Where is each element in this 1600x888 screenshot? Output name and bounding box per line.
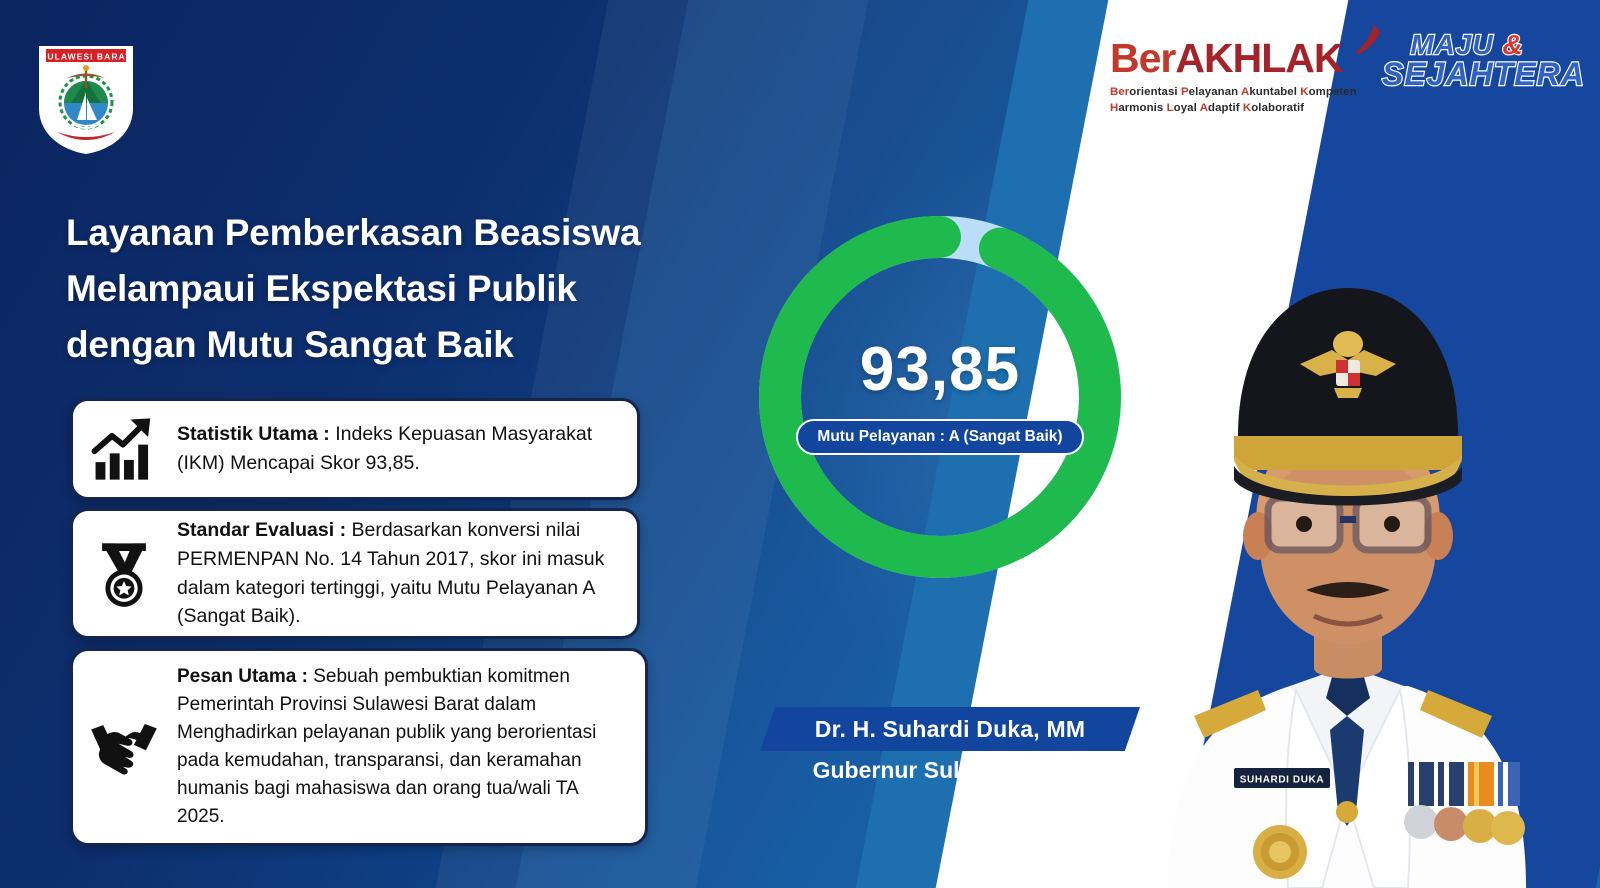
- maju-line-2: SEJAHTERA: [1382, 59, 1552, 90]
- info-card-pesan-utama: Pesan Utama : Sebuah pembuktian komitmen…: [70, 648, 648, 846]
- official-name-plate: Dr. H. Suhardi Duka, MM: [760, 707, 1140, 751]
- maju-sejahtera-logo: MAJU & SEJAHTERA: [1382, 32, 1552, 90]
- info-card-body: Sebuah pembuktian komitmen Pemerintah Pr…: [177, 666, 596, 828]
- ikm-donut-gauge: 93,85 Mutu Pelayanan : A (Sangat Baik): [748, 205, 1132, 589]
- info-card-text: Pesan Utama : Sebuah pembuktian komitmen…: [177, 663, 629, 832]
- info-card-label: Statistik Utama :: [177, 423, 330, 445]
- info-card-standar-evaluasi: Standar Evaluasi : Berdasarkan konversi …: [70, 508, 640, 639]
- gauge-center-content: 93,85 Mutu Pelayanan : A (Sangat Baik): [748, 205, 1132, 589]
- info-card-label: Pesan Utama :: [177, 666, 308, 687]
- tagline-rest-1: orientasi: [1129, 86, 1181, 98]
- info-card-label: Standar Evaluasi :: [177, 519, 346, 541]
- info-card-statistik-utama: Statistik Utama : Indeks Kepuasan Masyar…: [70, 398, 640, 500]
- infographic-poster: SULAWESI BARAT BerAKHLAK Berorientasi Pe…: [0, 0, 1600, 888]
- info-card-text: Statistik Utama : Indeks Kepuasan Masyar…: [177, 420, 621, 478]
- handshake-icon: [85, 708, 163, 786]
- gauge-score-value: 93,85: [860, 339, 1020, 401]
- berakhlak-word-part2: AKHLAK: [1175, 35, 1342, 81]
- berakhlak-tagline-line1: Berorientasi Pelayanan Akuntabel Kompete…: [1110, 85, 1360, 100]
- page-title: Layanan Pemberkasan Beasiswa Melampaui E…: [66, 205, 706, 374]
- quality-badge: Mutu Pelayanan : A (Sangat Baik): [796, 419, 1083, 455]
- governor-portrait-photo: SUHARDI DUKA: [1108, 150, 1578, 888]
- maju-line-1: MAJU &: [1382, 32, 1552, 59]
- official-title: Gubernur Sulawesi Barat: [760, 757, 1140, 784]
- svg-text:SULAWESI BARAT: SULAWESI BARAT: [41, 51, 132, 61]
- uniform-name-tag: SUHARDI DUKA: [1240, 775, 1324, 786]
- official-name: Dr. H. Suhardi Duka, MM: [815, 716, 1085, 743]
- berakhlak-logo: BerAKHLAK Berorientasi Pelayanan Akuntab…: [1110, 38, 1360, 116]
- berakhlak-tagline-line2: Harmonis Loyal Adaptif Kolaboratif: [1110, 101, 1360, 116]
- info-card-text: Standar Evaluasi : Berdasarkan konversi …: [177, 516, 621, 631]
- bar-chart-growth-icon: [85, 410, 163, 488]
- berakhlak-wordmark: BerAKHLAK: [1110, 38, 1342, 79]
- berakhlak-word-part1: Ber: [1110, 35, 1175, 81]
- medal-award-icon: [85, 535, 163, 613]
- sulawesi-barat-emblem-logo: SULAWESI BARAT: [33, 40, 139, 156]
